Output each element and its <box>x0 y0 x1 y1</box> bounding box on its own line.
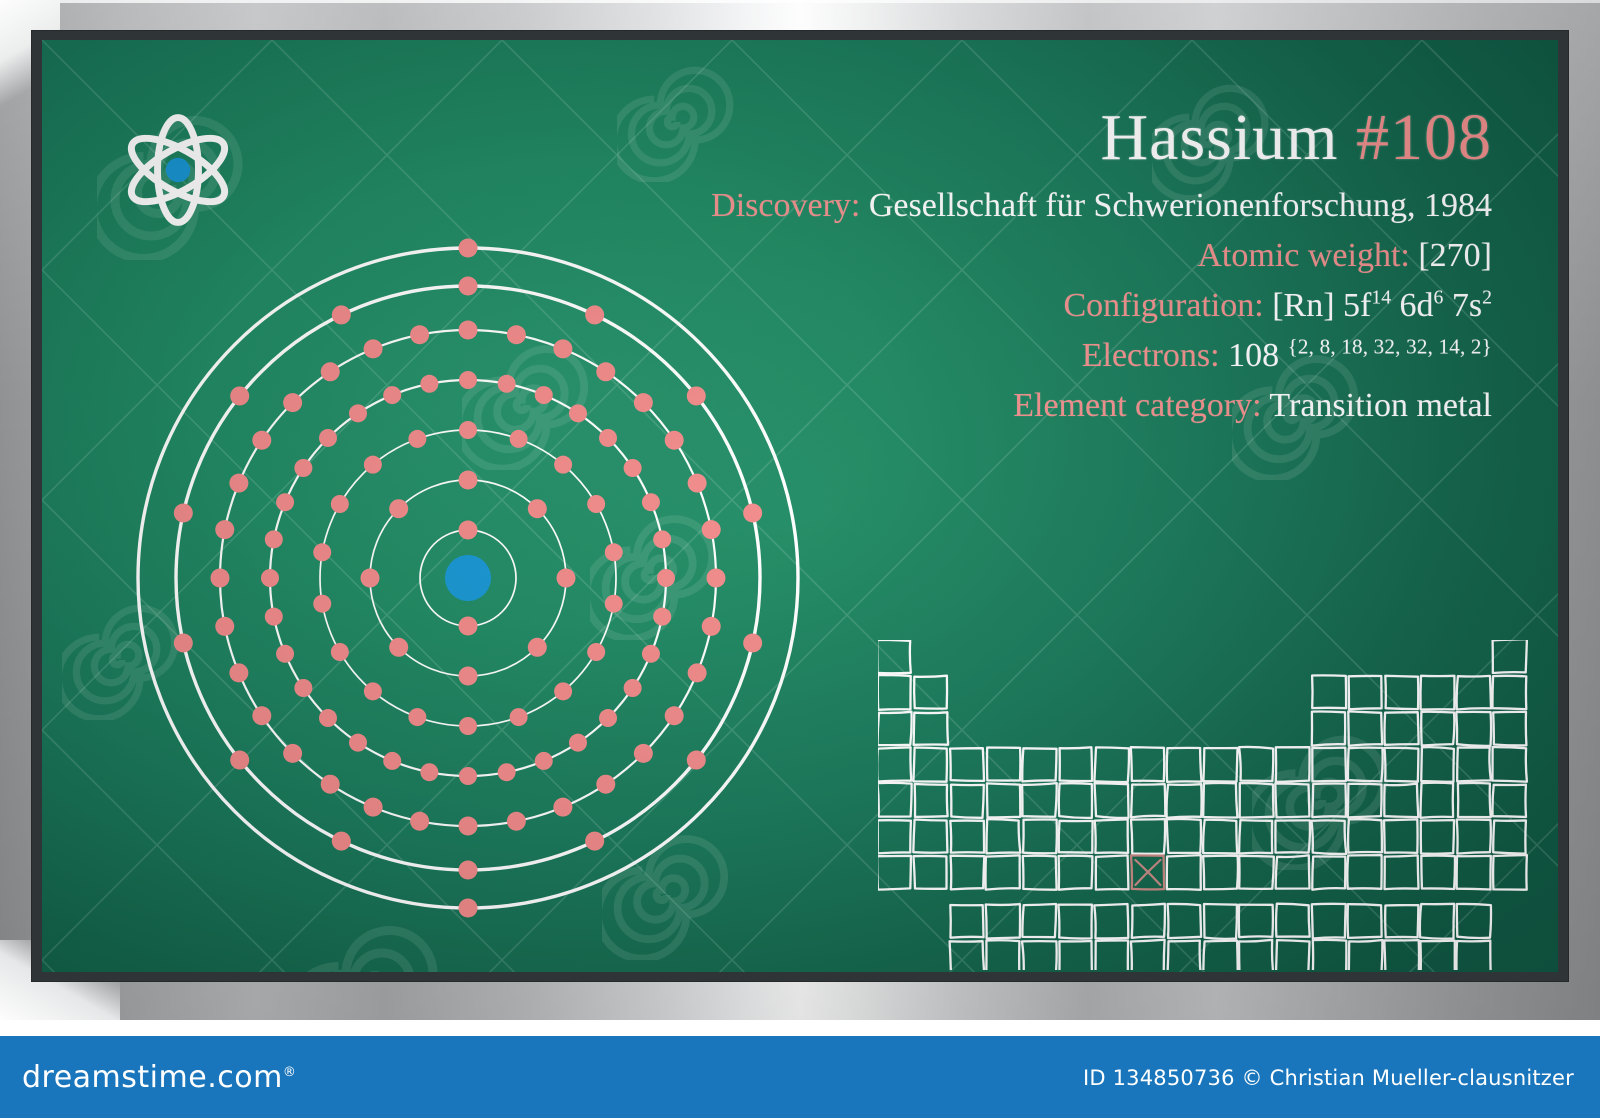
periodic-cell[interactable] <box>986 940 1019 970</box>
periodic-cell[interactable] <box>1094 904 1128 938</box>
electron-dot <box>319 709 337 727</box>
electron-dot <box>410 812 429 831</box>
electron-dot <box>653 530 671 548</box>
periodic-cell[interactable] <box>914 712 949 745</box>
electron-dot <box>332 832 351 851</box>
periodic-cell[interactable] <box>1348 819 1382 852</box>
electron-dot <box>459 239 478 258</box>
electron-dot <box>688 663 707 682</box>
periodic-cell[interactable] <box>951 785 984 818</box>
periodic-cell[interactable] <box>1203 820 1237 854</box>
periodic-cell[interactable] <box>1239 820 1272 853</box>
registered-mark: ® <box>283 1065 297 1080</box>
electron-dot <box>331 643 349 661</box>
periodic-cell[interactable] <box>1131 784 1165 817</box>
electron-dot <box>587 643 605 661</box>
electron-dot <box>459 667 478 686</box>
electron-dot <box>349 734 367 752</box>
electron-dot <box>569 734 587 752</box>
periodic-cell[interactable] <box>1239 747 1273 781</box>
periodic-cell[interactable] <box>1167 784 1202 818</box>
periodic-cell[interactable] <box>1132 904 1165 938</box>
periodic-cell[interactable] <box>986 855 1020 889</box>
periodic-cell[interactable] <box>878 640 911 673</box>
periodic-cell[interactable] <box>1385 748 1419 782</box>
nucleus <box>445 555 491 601</box>
electron-dot <box>252 706 271 725</box>
electron-dot <box>265 530 283 548</box>
periodic-cell[interactable] <box>1022 941 1057 970</box>
periodic-cell[interactable] <box>1059 821 1093 853</box>
periodic-cell[interactable] <box>1095 783 1129 818</box>
electron-dot <box>596 775 615 794</box>
periodic-cell[interactable] <box>1456 712 1491 746</box>
periodic-cell[interactable] <box>950 905 983 938</box>
electron-dot <box>389 638 408 657</box>
electron-dot <box>408 708 426 726</box>
electron-dot <box>634 744 653 763</box>
electron-dot <box>557 569 576 588</box>
periodic-cell[interactable] <box>1312 904 1346 939</box>
electron-dot <box>313 543 331 561</box>
periodic-table-mini <box>878 640 1558 970</box>
periodic-cell[interactable] <box>1348 711 1382 745</box>
electron-dot <box>321 362 340 381</box>
periodic-cell[interactable] <box>986 819 1020 853</box>
periodic-cell[interactable] <box>1167 819 1201 853</box>
periodic-cell[interactable] <box>1493 712 1526 746</box>
periodic-cell[interactable] <box>1458 783 1491 817</box>
electron-dot <box>174 504 193 523</box>
electron-dot <box>364 798 383 817</box>
electron-dot <box>599 429 617 447</box>
electron-dot <box>459 277 478 296</box>
periodic-cell[interactable] <box>915 784 948 817</box>
periodic-cell[interactable] <box>1385 676 1418 709</box>
electron-dot <box>587 495 605 513</box>
periodic-cell[interactable] <box>1276 904 1310 937</box>
electron-dot <box>510 708 528 726</box>
periodic-cell[interactable] <box>1312 711 1345 745</box>
periodic-cell[interactable] <box>1349 676 1382 709</box>
periodic-cell[interactable] <box>878 856 911 890</box>
electron-dot <box>665 431 684 450</box>
electron-dot <box>349 404 367 422</box>
electron-dot <box>507 325 526 344</box>
value-atomic-weight: [270] <box>1418 237 1492 274</box>
electron-dot <box>321 775 340 794</box>
electron-dot <box>528 638 547 657</box>
periodic-cell[interactable] <box>1420 941 1454 970</box>
periodic-cell[interactable] <box>1385 905 1418 937</box>
electron-dot <box>459 421 477 439</box>
electron-dot <box>498 375 516 393</box>
periodic-cell[interactable] <box>1493 785 1526 817</box>
electron-dot <box>702 617 721 636</box>
electron-dot <box>634 393 653 412</box>
electron-dot <box>528 499 547 518</box>
periodic-cell[interactable] <box>1239 905 1273 938</box>
label-discovery: Discovery: <box>711 187 860 224</box>
electron-dot <box>459 817 478 836</box>
value-configuration: [Rn] 5f14 6d6 7s2 <box>1272 287 1492 324</box>
periodic-cell[interactable] <box>1239 940 1273 970</box>
periodic-cell[interactable] <box>986 904 1020 938</box>
periodic-cell[interactable] <box>1312 675 1346 708</box>
periodic-cell[interactable] <box>1131 819 1165 854</box>
electron-dot <box>420 375 438 393</box>
electron-dot <box>653 608 671 626</box>
periodic-cell[interactable] <box>1493 820 1526 853</box>
periodic-cell[interactable] <box>950 941 985 970</box>
bohr-model-diagram <box>128 238 808 918</box>
electron-dot <box>687 751 706 770</box>
periodic-cell[interactable] <box>1203 748 1237 782</box>
periodic-cell[interactable] <box>1456 941 1490 970</box>
periodic-cell[interactable] <box>1022 783 1057 817</box>
electron-dot <box>276 493 294 511</box>
periodic-cell[interactable] <box>878 747 911 781</box>
periodic-cell[interactable] <box>913 748 947 782</box>
config-sup-0: 14 <box>1371 287 1391 309</box>
periodic-cell[interactable] <box>1420 676 1454 710</box>
periodic-cell[interactable] <box>1493 747 1527 782</box>
electron-dot <box>410 325 429 344</box>
electron-dot <box>743 504 762 523</box>
electron-dot <box>383 752 401 770</box>
periodic-cell[interactable] <box>1349 940 1383 970</box>
electron-dot <box>642 493 660 511</box>
atom-icon <box>114 106 242 234</box>
electron-dot <box>707 569 726 588</box>
periodic-cell[interactable] <box>1095 819 1128 853</box>
x-cross-icon <box>1135 860 1160 885</box>
periodic-cell[interactable] <box>1348 748 1383 782</box>
electron-dot <box>459 767 477 785</box>
electron-dot <box>294 679 312 697</box>
periodic-cell[interactable] <box>950 748 984 781</box>
electron-dot <box>364 682 382 700</box>
electron-dot <box>283 744 302 763</box>
electron-dot <box>687 386 706 405</box>
config-part-0: [Rn] 5f <box>1272 287 1371 324</box>
periodic-cell[interactable] <box>1276 855 1310 888</box>
periodic-cell[interactable] <box>1420 783 1453 818</box>
electron-dot <box>459 471 478 490</box>
electron-dot <box>459 861 478 880</box>
electron-dot <box>261 569 279 587</box>
electron-dot <box>389 499 408 518</box>
periodic-cell[interactable] <box>1384 819 1418 853</box>
electron-dot <box>215 520 234 539</box>
electron-dot <box>702 520 721 539</box>
periodic-cell[interactable] <box>1276 747 1310 782</box>
periodic-cell[interactable] <box>1457 904 1491 938</box>
electron-dot <box>459 521 478 540</box>
periodic-cell[interactable] <box>1059 941 1092 970</box>
electron-dot <box>283 393 302 412</box>
electron-dot <box>230 751 249 770</box>
electron-dot <box>642 645 660 663</box>
value-element-category: Transition metal <box>1269 387 1492 424</box>
electron-dot <box>331 495 349 513</box>
electron-dot <box>252 431 271 450</box>
electron-dot <box>535 386 553 404</box>
periodic-cell[interactable] <box>1203 941 1237 970</box>
periodic-cell[interactable] <box>1096 855 1129 889</box>
atomic-number: #108 <box>1356 101 1492 174</box>
periodic-cell[interactable] <box>1384 940 1419 970</box>
electron-dot <box>657 569 675 587</box>
electron-dot <box>383 386 401 404</box>
footer-bar: dreamstime.com® ID 134850736 © Christian… <box>0 1036 1600 1118</box>
periodic-cell[interactable] <box>951 856 985 890</box>
periodic-cell[interactable] <box>987 783 1020 817</box>
periodic-cell[interactable] <box>1492 676 1526 709</box>
label-atomic-weight: Atomic weight: <box>1197 237 1409 274</box>
electron-dot <box>230 386 249 405</box>
electron-dot <box>553 339 572 358</box>
periodic-cell[interactable] <box>1275 784 1309 818</box>
periodic-cell[interactable] <box>1131 940 1165 970</box>
electron-dot <box>276 645 294 663</box>
electron-dot <box>605 543 623 561</box>
periodic-cell[interactable] <box>878 712 912 745</box>
periodic-cell[interactable] <box>1203 856 1238 889</box>
electron-dot <box>265 608 283 626</box>
periodic-cell[interactable] <box>1457 856 1491 890</box>
electron-dot <box>332 305 351 324</box>
periodic-cell[interactable] <box>1167 748 1202 782</box>
periodic-cell[interactable] <box>1421 856 1455 889</box>
periodic-cell[interactable] <box>1276 940 1310 970</box>
periodic-cell[interactable] <box>1168 904 1202 938</box>
periodic-cell[interactable] <box>914 676 947 709</box>
value-discovery: Gesellschaft für Schwerionenforschung, 1… <box>869 187 1492 224</box>
electron-dot <box>361 569 380 588</box>
electron-dot <box>553 798 572 817</box>
periodic-cell[interactable] <box>1168 941 1201 970</box>
config-sup-2: 2 <box>1482 287 1492 309</box>
electron-dot <box>313 595 331 613</box>
periodic-cell[interactable] <box>1457 748 1491 782</box>
chalkboard-border: Hassium #108 Discovery: Gesellschaft für… <box>32 31 1568 981</box>
atom-nucleus <box>166 158 190 182</box>
brand-text: dreamstime.com <box>22 1060 283 1095</box>
electron-dot <box>624 459 642 477</box>
periodic-cell[interactable] <box>1022 748 1056 781</box>
electron-dot <box>665 706 684 725</box>
electron-dot <box>596 362 615 381</box>
periodic-cell[interactable] <box>1347 855 1381 889</box>
electron-dot <box>498 763 516 781</box>
periodic-cell[interactable] <box>1058 905 1092 939</box>
periodic-cell[interactable] <box>1312 820 1347 854</box>
electron-dot <box>535 752 553 770</box>
periodic-cell[interactable] <box>1203 783 1237 817</box>
electron-dot <box>459 899 478 918</box>
periodic-cell[interactable] <box>1493 640 1527 673</box>
electron-dot <box>585 832 604 851</box>
config-part-2: 7s <box>1443 287 1482 324</box>
electron-dot <box>459 371 477 389</box>
periodic-cell[interactable] <box>1204 904 1237 939</box>
config-part-1: 6d <box>1391 287 1434 324</box>
periodic-cell[interactable] <box>1313 940 1347 970</box>
periodic-cell[interactable] <box>1060 747 1092 781</box>
electron-dot <box>688 474 707 493</box>
periodic-cell[interactable] <box>1384 784 1418 818</box>
periodic-cell[interactable] <box>878 783 912 817</box>
periodic-cell[interactable] <box>1094 747 1129 782</box>
periodic-cell[interactable] <box>1493 855 1527 890</box>
electron-dot <box>364 339 383 358</box>
periodic-cell[interactable] <box>1312 784 1346 818</box>
page-title: Hassium #108 <box>592 104 1492 171</box>
electron-dot <box>420 763 438 781</box>
electron-dot <box>294 459 312 477</box>
periodic-cell[interactable] <box>1059 856 1093 890</box>
periodic-cell[interactable] <box>1421 820 1454 854</box>
periodic-cell[interactable] <box>1348 904 1382 938</box>
periodic-cell[interactable] <box>1457 676 1491 710</box>
periodic-cell[interactable] <box>1240 783 1274 818</box>
electron-dot <box>215 617 234 636</box>
periodic-cell[interactable] <box>1421 712 1454 746</box>
periodic-cell[interactable] <box>878 820 911 853</box>
label-configuration: Configuration: <box>1063 287 1263 324</box>
periodic-cell[interactable] <box>1421 747 1454 782</box>
electron-dot <box>624 679 642 697</box>
periodic-cell[interactable] <box>1023 819 1057 853</box>
periodic-cell[interactable] <box>1275 820 1310 852</box>
electron-dot <box>743 633 762 652</box>
value-electrons: 108 <box>1228 337 1279 374</box>
periodic-cell[interactable] <box>1385 712 1419 745</box>
periodic-cell[interactable] <box>914 856 947 889</box>
periodic-cell[interactable] <box>1420 904 1454 939</box>
electron-dot <box>554 456 572 474</box>
electron-dot <box>319 429 337 447</box>
periodic-cell[interactable] <box>1457 819 1491 853</box>
periodic-cell[interactable] <box>1022 904 1056 937</box>
dreamstime-logo[interactable]: dreamstime.com® <box>22 1060 296 1095</box>
periodic-cell[interactable] <box>1059 783 1092 818</box>
periodic-cell[interactable] <box>1385 855 1419 889</box>
periodic-cell[interactable] <box>913 820 947 853</box>
image-credit: ID 134850736 © Christian Mueller-clausni… <box>1083 1066 1574 1090</box>
electron-dot <box>554 682 572 700</box>
electron-dot <box>605 595 623 613</box>
label-electrons: Electrons: <box>1082 337 1220 374</box>
periodic-cell[interactable] <box>1023 856 1057 890</box>
electron-dot <box>569 404 587 422</box>
periodic-cell[interactable] <box>1312 748 1346 782</box>
periodic-cell[interactable] <box>1131 747 1164 781</box>
electron-dot <box>507 812 526 831</box>
periodic-cell[interactable] <box>1239 856 1274 889</box>
periodic-cell[interactable] <box>1167 855 1201 890</box>
electron-dot <box>364 456 382 474</box>
electron-dot <box>510 430 528 448</box>
electron-dot <box>211 569 230 588</box>
electron-dot <box>408 430 426 448</box>
electron-dot <box>585 305 604 324</box>
periodic-cell[interactable] <box>1348 784 1382 818</box>
electron-dot <box>174 633 193 652</box>
config-sup-1: 6 <box>1434 287 1444 309</box>
chalkboard: Hassium #108 Discovery: Gesellschaft für… <box>42 40 1558 972</box>
electron-dot <box>459 617 478 636</box>
label-element-category: Element category: <box>1013 387 1261 424</box>
electron-dot <box>229 663 248 682</box>
row-discovery: Discovery: Gesellschaft für Schwerionenf… <box>592 181 1492 231</box>
electron-dot <box>459 321 478 340</box>
periodic-cell[interactable] <box>950 821 984 853</box>
periodic-cell[interactable] <box>1312 856 1345 889</box>
electron-dot <box>459 717 477 735</box>
electron-dot <box>229 474 248 493</box>
periodic-cell[interactable] <box>878 675 911 710</box>
electron-dot <box>599 709 617 727</box>
periodic-cell[interactable] <box>987 748 1020 781</box>
periodic-cell[interactable] <box>1096 940 1129 970</box>
element-name: Hassium <box>1101 101 1339 174</box>
value-electron-shells: {2, 8, 18, 32, 32, 14, 2} <box>1288 335 1492 359</box>
